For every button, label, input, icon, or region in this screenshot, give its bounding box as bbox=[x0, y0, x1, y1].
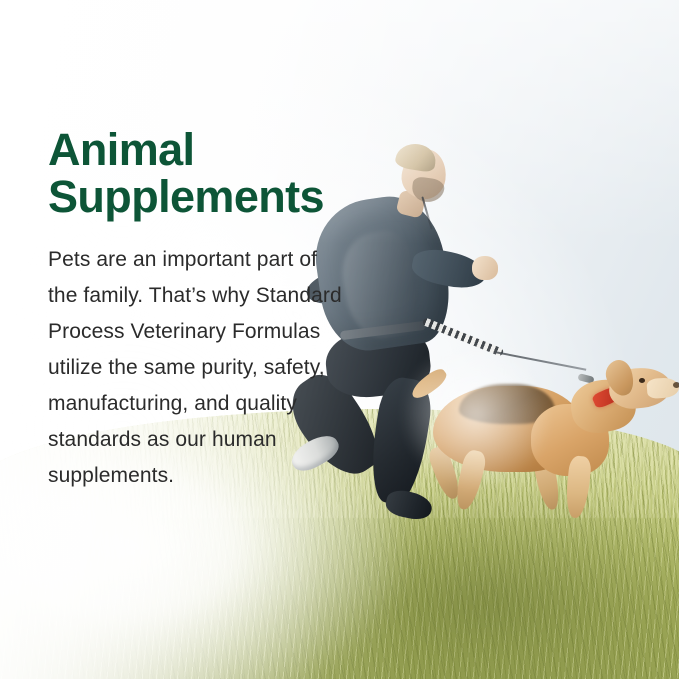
body-copy: Pets are an important part of the family… bbox=[48, 242, 348, 494]
promo-banner: Animal Supplements Pets are an important… bbox=[0, 0, 679, 679]
page-title: Animal Supplements bbox=[48, 126, 348, 220]
body-paragraph: Pets are an important part of the family… bbox=[48, 242, 348, 494]
headline-line-1: Animal bbox=[48, 126, 348, 173]
text-block: Animal Supplements Pets are an important… bbox=[48, 126, 348, 494]
headline-line-2: Supplements bbox=[48, 173, 348, 220]
